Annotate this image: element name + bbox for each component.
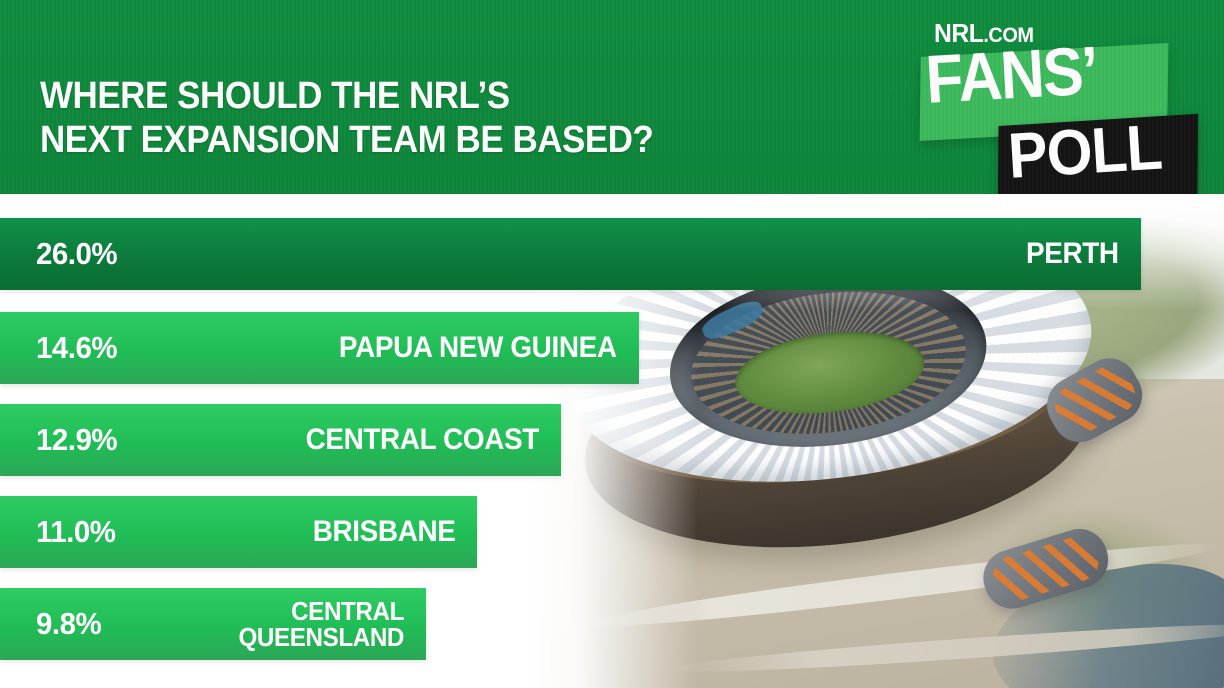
- table-row[interactable]: 11.0% BRISBANE: [0, 496, 477, 568]
- bar-percentage: 12.9%: [36, 422, 117, 458]
- bar-label: PAPUA NEW GUINEA: [339, 333, 617, 363]
- header-banner: WHERE SHOULD THE NRL’S NEXT EXPANSION TE…: [0, 0, 1224, 194]
- bar-label: PERTH: [1026, 239, 1119, 269]
- fans-poll-graphic: WHERE SHOULD THE NRL’S NEXT EXPANSION TE…: [0, 0, 1224, 688]
- table-row[interactable]: 26.0% PERTH: [0, 218, 1141, 290]
- poll-results-bars: 26.0% PERTH 14.6% PAPUA NEW GUINEA 12.9%…: [0, 194, 1224, 688]
- bar-label: CENTRAL COAST: [306, 425, 539, 455]
- bar-percentage: 11.0%: [36, 514, 116, 550]
- bar-label: CENTRAL QUEENSLAND: [238, 598, 404, 650]
- bar-percentage: 9.8%: [36, 606, 101, 642]
- page-title: WHERE SHOULD THE NRL’S NEXT EXPANSION TE…: [40, 74, 653, 162]
- poll-label: POLL: [1006, 107, 1194, 194]
- table-row[interactable]: 14.6% PAPUA NEW GUINEA: [0, 312, 639, 384]
- fans-label: FANS’: [924, 33, 1152, 113]
- bar-percentage: 14.6%: [36, 330, 117, 366]
- bar-percentage: 26.0%: [36, 236, 117, 272]
- table-row[interactable]: 12.9% CENTRAL COAST: [0, 404, 561, 476]
- table-row[interactable]: 9.8% CENTRAL QUEENSLAND: [0, 588, 426, 660]
- nrl-fans-poll-logo: NRL.COM FANS’ POLL: [898, 10, 1188, 194]
- bar-label: BRISBANE: [312, 517, 455, 547]
